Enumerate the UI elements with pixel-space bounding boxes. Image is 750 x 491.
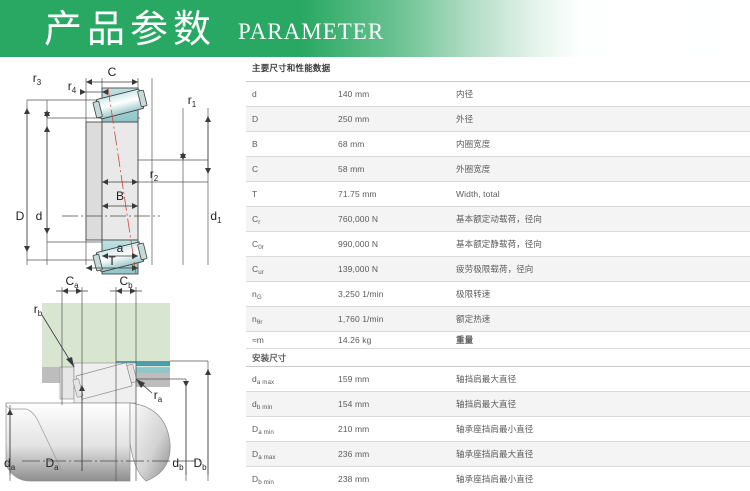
row-description: Width, total bbox=[456, 182, 750, 207]
row-description: 重量 bbox=[456, 332, 750, 349]
dim-label-r4: r4 bbox=[68, 79, 77, 95]
table-row: Cur 139,000 N 疲劳极限载荷，径向 bbox=[246, 257, 750, 282]
row-symbol: Cur bbox=[246, 257, 338, 282]
row-description: 轴承座挡肩最小直径 bbox=[456, 417, 750, 442]
table-row: B 68 mm 内圈宽度 bbox=[246, 132, 750, 157]
table-row: da max 159 mm 轴挡肩最大直径 bbox=[246, 367, 750, 392]
table-caption: 主要尺寸和性能数据 bbox=[246, 62, 750, 81]
row-value: 154 mm bbox=[338, 392, 456, 417]
row-value: 236 mm bbox=[338, 442, 456, 467]
row-symbol: B bbox=[246, 132, 338, 157]
row-description: 轴挡肩最大直径 bbox=[456, 367, 750, 392]
bearing-mounting-drawing: Ca Cb rb ra da Da db Db bbox=[0, 275, 240, 489]
row-value: 139,000 N bbox=[338, 257, 456, 282]
page-title-en: PARAMETER bbox=[238, 20, 384, 43]
bearing-cross-section-drawing: r3 r4 C r1 r2 B D d d1 a T bbox=[0, 60, 240, 275]
parameter-table-body: d 140 mm 内径 D 250 mm 外径 B 68 mm 内圈宽度 C 5… bbox=[246, 82, 750, 491]
row-symbol: da max bbox=[246, 367, 338, 392]
row-value: 990,000 N bbox=[338, 232, 456, 257]
row-symbol: Cr bbox=[246, 207, 338, 232]
dim-label-D: D bbox=[16, 209, 25, 223]
dim-label-db: db bbox=[172, 456, 184, 472]
row-description: 轴承座挡肩最小直径 bbox=[456, 467, 750, 491]
dim-label-ra: ra bbox=[154, 388, 163, 404]
section-spacer2 bbox=[456, 349, 750, 367]
row-description: 内径 bbox=[456, 82, 750, 107]
row-description: 极限转速 bbox=[456, 282, 750, 307]
dim-label-a: a bbox=[117, 241, 124, 255]
section-spacer bbox=[338, 349, 456, 367]
parameter-table-panel: 主要尺寸和性能数据 d 140 mm 内径 D 250 mm 外径 B 68 m… bbox=[246, 62, 750, 491]
row-value: 159 mm bbox=[338, 367, 456, 392]
table-row: Db min 238 mm 轴承座挡肩最小直径 bbox=[246, 467, 750, 491]
row-value: 250 mm bbox=[338, 107, 456, 132]
row-description: 内圈宽度 bbox=[456, 132, 750, 157]
row-symbol: Da max bbox=[246, 442, 338, 467]
table-row: Da min 210 mm 轴承座挡肩最小直径 bbox=[246, 417, 750, 442]
row-symbol: Db min bbox=[246, 467, 338, 491]
table-row: d 140 mm 内径 bbox=[246, 82, 750, 107]
table-row: Cr 760,000 N 基本额定动载荷，径向 bbox=[246, 207, 750, 232]
row-symbol: d bbox=[246, 82, 338, 107]
row-symbol: C0r bbox=[246, 232, 338, 257]
table-row: C 58 mm 外圈宽度 bbox=[246, 157, 750, 182]
row-description: 外圈宽度 bbox=[456, 157, 750, 182]
row-description: 疲劳极限载荷，径向 bbox=[456, 257, 750, 282]
row-description: 外径 bbox=[456, 107, 750, 132]
dim-label-rb: rb bbox=[34, 302, 43, 318]
row-value: 14.26 kg bbox=[338, 332, 456, 349]
row-description: 轴挡肩最大直径 bbox=[456, 392, 750, 417]
row-value: 1,760 1/min bbox=[338, 307, 456, 332]
table-section-header: 安装尺寸 bbox=[246, 349, 750, 367]
row-description: 基本额定静载荷，径向 bbox=[456, 232, 750, 257]
dim-label-Ca: Ca bbox=[65, 275, 79, 290]
page-title-cn: 产品参数 bbox=[44, 10, 216, 48]
banner-title-group: 产品参数 PARAMETER bbox=[44, 0, 384, 57]
dim-label-Db: Db bbox=[193, 456, 207, 472]
row-description: 基本额定动载荷，径向 bbox=[456, 207, 750, 232]
table-row: Da max 236 mm 轴承座挡肩最大直径 bbox=[246, 442, 750, 467]
parameter-table: d 140 mm 内径 D 250 mm 外径 B 68 mm 内圈宽度 C 5… bbox=[246, 81, 750, 491]
row-symbol: T bbox=[246, 182, 338, 207]
dim-label-d: d bbox=[36, 209, 43, 223]
table-row: nθr 1,760 1/min 额定热速 bbox=[246, 307, 750, 332]
row-value: 140 mm bbox=[338, 82, 456, 107]
row-symbol: nG bbox=[246, 282, 338, 307]
row-value: 71.75 mm bbox=[338, 182, 456, 207]
dim-label-r3: r3 bbox=[33, 71, 42, 87]
table-row: T 71.75 mm Width, total bbox=[246, 182, 750, 207]
section-label: 安装尺寸 bbox=[246, 349, 338, 367]
dim-label-r1: r1 bbox=[188, 93, 197, 109]
row-description: 额定热速 bbox=[456, 307, 750, 332]
dim-label-r2: r2 bbox=[150, 167, 159, 183]
table-row: nG 3,250 1/min 极限转速 bbox=[246, 282, 750, 307]
product-parameter-page: 产品参数 PARAMETER bbox=[0, 0, 750, 489]
row-value: 238 mm bbox=[338, 467, 456, 491]
table-row: D 250 mm 外径 bbox=[246, 107, 750, 132]
table-row-mass: ≈m 14.26 kg 重量 bbox=[246, 332, 750, 349]
table-row: C0r 990,000 N 基本额定静载荷，径向 bbox=[246, 232, 750, 257]
dim-label-Cb: Cb bbox=[119, 275, 133, 290]
row-value: 68 mm bbox=[338, 132, 456, 157]
housing-block bbox=[42, 303, 170, 367]
shaft-body bbox=[6, 403, 130, 481]
row-symbol: Da min bbox=[246, 417, 338, 442]
dim-label-B: B bbox=[116, 189, 124, 203]
row-value: 58 mm bbox=[338, 157, 456, 182]
row-value: 210 mm bbox=[338, 417, 456, 442]
row-value: 3,250 1/min bbox=[338, 282, 456, 307]
row-value: 760,000 N bbox=[338, 207, 456, 232]
table-row: db min 154 mm 轴挡肩最大直径 bbox=[246, 392, 750, 417]
row-symbol: ≈m bbox=[246, 332, 338, 349]
dim-label-C: C bbox=[108, 65, 117, 79]
technical-drawings-panel: r3 r4 C r1 r2 B D d d1 a T bbox=[0, 60, 240, 489]
row-symbol: C bbox=[246, 157, 338, 182]
page-header-banner: 产品参数 PARAMETER bbox=[0, 0, 750, 57]
row-symbol: db min bbox=[246, 392, 338, 417]
dim-label-T: T bbox=[108, 254, 116, 268]
row-symbol: D bbox=[246, 107, 338, 132]
row-symbol: nθr bbox=[246, 307, 338, 332]
row-description: 轴承座挡肩最大直径 bbox=[456, 442, 750, 467]
dim-label-d1: d1 bbox=[210, 209, 222, 225]
